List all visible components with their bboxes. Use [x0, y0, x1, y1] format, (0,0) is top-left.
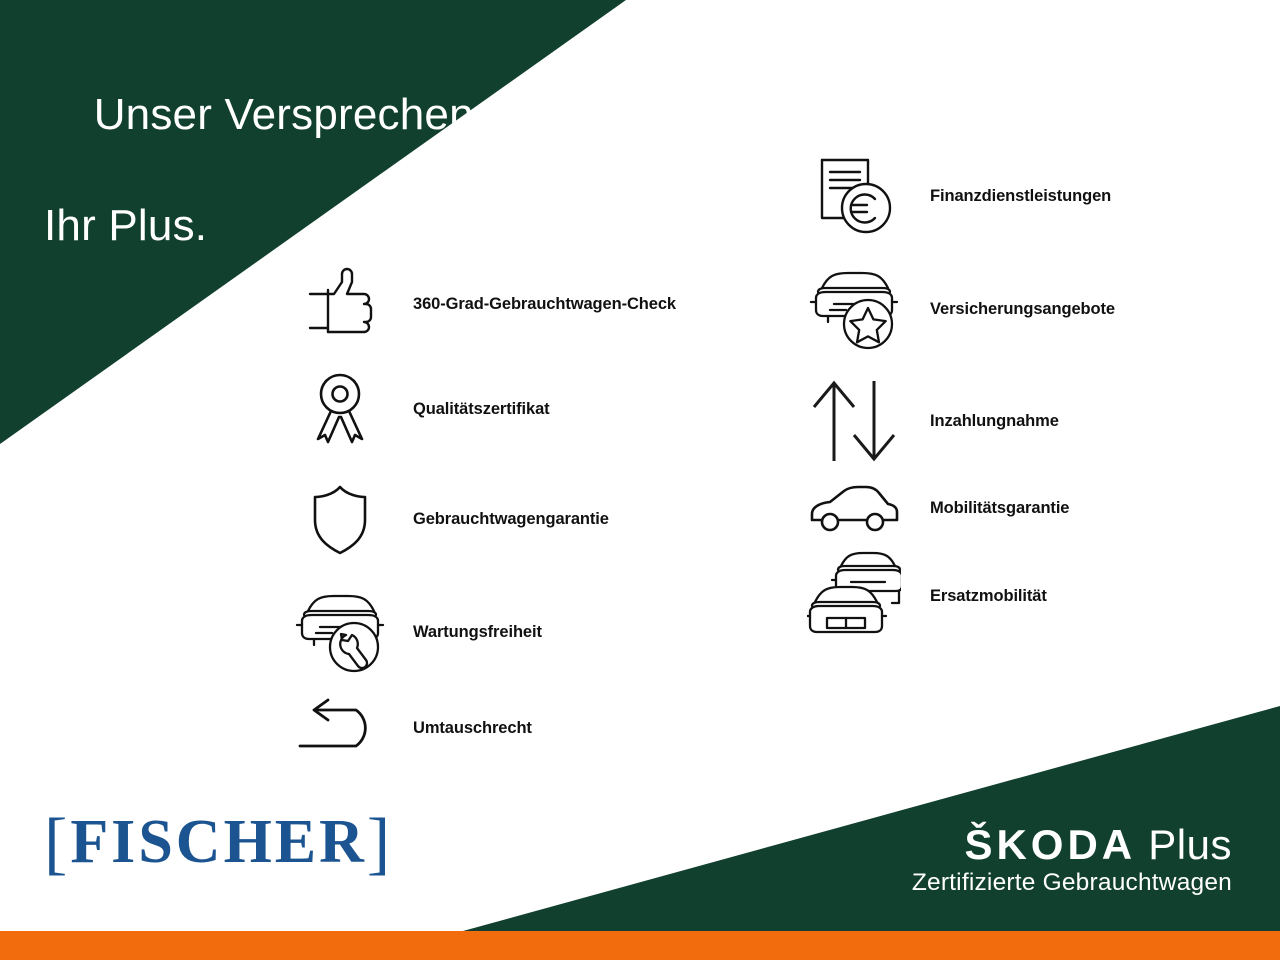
car-side-icon: [806, 460, 902, 556]
feature-quality-certificate: Qualitätszertifikat: [292, 361, 550, 457]
logo-bracket-open: [: [44, 805, 70, 882]
shield-icon: [292, 471, 388, 567]
skoda-tagline: Zertifizierte Gebrauchtwagen: [912, 869, 1232, 897]
feature-trade-in: Inzahlungnahme: [806, 373, 1059, 469]
headline-line-1: Unser Versprechen.: [94, 90, 486, 139]
feature-label: Finanzdienstleistungen: [930, 187, 1111, 206]
feature-label: Ersatzmobilität: [930, 587, 1047, 606]
thumbs-up-icon: [292, 256, 388, 352]
feature-360-check: 360-Grad-Gebrauchtwagen-Check: [292, 256, 676, 352]
up-down-arrows-icon: [806, 373, 902, 469]
feature-maintenance-free: Wartungsfreiheit: [292, 584, 542, 680]
feature-label: 360-Grad-Gebrauchtwagen-Check: [413, 295, 676, 314]
feature-label: Gebrauchtwagengarantie: [413, 510, 609, 529]
feature-label: Versicherungsangebote: [930, 300, 1115, 319]
car-star-icon: [806, 261, 902, 357]
car-wrench-icon: [292, 584, 388, 680]
feature-insurance-offers: Versicherungsangebote: [806, 261, 1115, 357]
feature-financial-services: Finanzdienstleistungen: [806, 148, 1111, 244]
two-cars-icon: [806, 548, 902, 644]
logo-name: FISCHER: [70, 808, 367, 876]
feature-label: Inzahlungnahme: [930, 412, 1059, 431]
return-arrow-icon: [292, 680, 388, 776]
rosette-award-icon: [292, 361, 388, 457]
feature-mobility-guarantee: Mobilitätsgarantie: [806, 460, 1069, 556]
feature-label: Qualitätszertifikat: [413, 400, 550, 419]
skoda-mark: ŠKODA: [964, 821, 1136, 868]
feature-replacement-mobility: Ersatzmobilität: [806, 548, 1047, 644]
plus-mark: Plus: [1136, 821, 1232, 868]
promo-banner: Unser Versprechen. Ihr Plus. 360-Grad-Ge…: [0, 0, 1280, 960]
skoda-plus-logo[interactable]: ŠKODA Plus Zertifizierte Gebrauchtwagen: [912, 822, 1232, 898]
feature-label: Umtauschrecht: [413, 719, 532, 738]
orange-bar: [0, 931, 1280, 960]
document-euro-icon: [806, 148, 902, 244]
feature-label: Wartungsfreiheit: [413, 623, 542, 642]
logo-bracket-close: ]: [367, 805, 393, 882]
headline-line-2: Ihr Plus.: [44, 198, 486, 253]
feature-label: Mobilitätsgarantie: [930, 499, 1069, 518]
feature-exchange-right: Umtauschrecht: [292, 680, 532, 776]
dealer-logo[interactable]: [FISCHER]: [44, 805, 393, 875]
skoda-plus-wordmark: ŠKODA Plus: [912, 822, 1232, 867]
feature-warranty: Gebrauchtwagengarantie: [292, 471, 609, 567]
